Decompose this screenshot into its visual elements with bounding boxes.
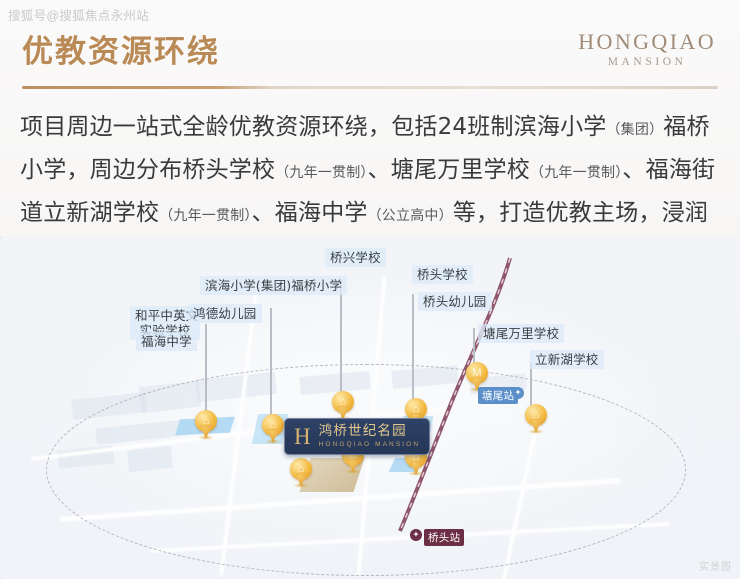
map-pin-school[interactable]: ⌂ bbox=[195, 410, 217, 440]
brand-logo: HONGQIAO MANSION bbox=[578, 30, 716, 68]
para-seg-3: 、塘尾万里学校 bbox=[368, 157, 530, 183]
para-note-5: （公立高中） bbox=[368, 208, 453, 224]
label-qiaotou-kindergarten[interactable]: 桥头幼儿园 bbox=[418, 292, 492, 311]
label-lixinhu-school[interactable]: 立新湖学校 bbox=[530, 350, 604, 369]
metro-icon: ✦ bbox=[512, 387, 524, 399]
map-pin-school[interactable]: ⌂ bbox=[332, 391, 354, 421]
photo-watermark: 实景图 bbox=[699, 558, 732, 573]
project-name-cn: 鸿桥世纪名园 bbox=[319, 424, 421, 439]
project-name-en: HONGQIAO MANSION bbox=[319, 440, 421, 449]
label-leader bbox=[205, 324, 207, 424]
para-note-2: （九年一贯制） bbox=[275, 165, 367, 181]
brand-logo-primary: HONGQIAO bbox=[578, 30, 716, 53]
label-binhai-fuqiao-primary[interactable]: 滨海小学(集团)福桥小学 bbox=[200, 276, 347, 295]
school-icon: ⌂ bbox=[262, 416, 284, 434]
page-root: 搜狐号@搜狐焦点永州站 优教资源环绕 HONGQIAO MANSION 项目周边… bbox=[0, 0, 740, 579]
school-icon: ⌂ bbox=[290, 460, 312, 478]
label-fuhai-middle-school[interactable]: 福海中学 bbox=[136, 332, 197, 351]
location-map[interactable]: 和平中英文 实验学校 福海中学 鸿德幼儿园 滨海小学(集团)福桥小学 桥兴学校 … bbox=[0, 236, 740, 579]
project-badge[interactable]: H 鸿桥世纪名园 HONGQIAO MANSION bbox=[284, 418, 430, 455]
label-qiaoxing-school[interactable]: 桥兴学校 bbox=[325, 248, 386, 267]
school-icon: ⌂ bbox=[195, 412, 217, 430]
metro-icon: M bbox=[466, 364, 488, 382]
label-hongde-kindergarten[interactable]: 鸿德幼儿园 bbox=[188, 304, 262, 323]
label-leader bbox=[340, 280, 342, 402]
para-note-4: （九年一贯制） bbox=[159, 208, 251, 224]
header-divider bbox=[22, 86, 718, 89]
para-seg-1: 项目周边一站式全龄优教资源环绕，包括24班制滨海小学 bbox=[20, 114, 606, 140]
para-seg-5: 、福海中学 bbox=[252, 200, 368, 226]
page-title: 优教资源环绕 bbox=[22, 26, 220, 71]
label-leader bbox=[473, 328, 475, 364]
label-tangwei-wanli-school[interactable]: 塘尾万里学校 bbox=[478, 324, 564, 343]
para-note-1: （集团） bbox=[606, 122, 663, 138]
brand-logo-secondary: MANSION bbox=[578, 56, 716, 68]
map-pin-school[interactable]: ⌂ bbox=[262, 414, 284, 444]
metro-icon: ✦ bbox=[410, 529, 422, 541]
sohu-watermark: 搜狐号@搜狐焦点永州站 bbox=[8, 5, 149, 24]
page-header: 优教资源环绕 HONGQIAO MANSION bbox=[0, 24, 740, 90]
project-monogram-icon: H bbox=[292, 425, 312, 448]
label-leader bbox=[270, 308, 272, 418]
station-qiaotou[interactable]: 桥头站 bbox=[424, 529, 464, 546]
map-pin-school[interactable]: ⌂ bbox=[525, 404, 547, 434]
map-pin-school[interactable]: ⌂ bbox=[290, 458, 312, 488]
label-qiaotou-school[interactable]: 桥头学校 bbox=[412, 265, 473, 284]
school-icon: ⌂ bbox=[405, 400, 427, 418]
metro-line bbox=[0, 236, 740, 579]
school-icon: ⌂ bbox=[332, 393, 354, 411]
para-note-3: （九年一贯制） bbox=[530, 165, 622, 181]
school-icon: ⌂ bbox=[525, 406, 547, 424]
